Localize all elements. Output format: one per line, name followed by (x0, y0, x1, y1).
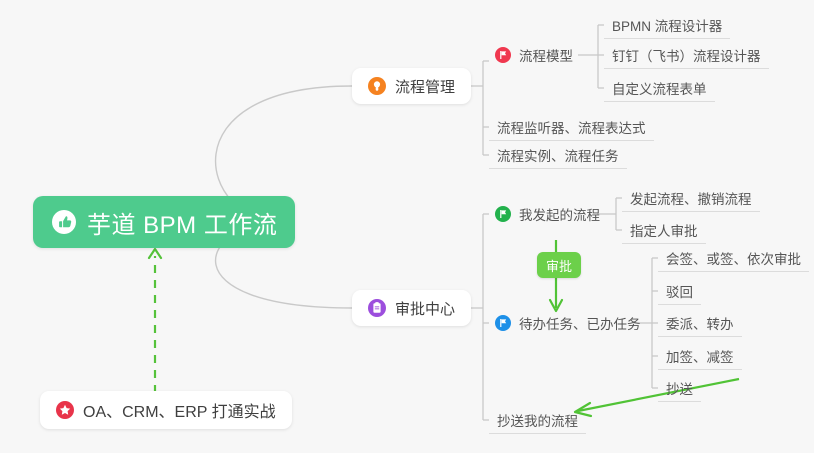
leaf-label: 指定人审批 (630, 220, 698, 240)
flag-icon (495, 315, 511, 331)
root-label: 芋道 BPM 工作流 (87, 205, 277, 240)
group-label-todo-done-tasks: 待办任务、已办任务 (519, 313, 641, 333)
thumbs-up-icon (51, 209, 77, 235)
flag-icon (495, 206, 511, 222)
bottom-node-integration[interactable]: OA、CRM、ERP 打通实战 (40, 391, 292, 429)
star-icon (56, 401, 74, 419)
mindmap-canvas: 芋道 BPM 工作流 流程管理 流程模型 BPMN 流程设计器 钉钉（飞书）流程… (0, 0, 814, 453)
leaf-node[interactable]: 钉钉（飞书）流程设计器 (604, 41, 769, 69)
leaf-node[interactable]: 流程监听器、流程表达式 (489, 113, 654, 141)
group-label-process-model: 流程模型 (519, 45, 573, 65)
leaf-node[interactable]: 抄送我的流程 (489, 406, 586, 434)
leaf-node[interactable]: 指定人审批 (622, 216, 706, 244)
bottom-node-label: OA、CRM、ERP 打通实战 (83, 398, 276, 422)
leaf-label: 流程实例、流程任务 (497, 145, 619, 165)
leaf-label: 钉钉（飞书）流程设计器 (612, 45, 761, 65)
branch-node-process-management[interactable]: 流程管理 (352, 68, 471, 104)
leaf-node[interactable]: 加签、减签 (658, 342, 742, 370)
leaf-node[interactable]: 抄送 (658, 374, 701, 402)
leaf-label: BPMN 流程设计器 (612, 15, 722, 35)
group-node-my-initiated[interactable]: 我发起的流程 (489, 200, 608, 228)
branch-label-process-management: 流程管理 (395, 76, 455, 97)
flag-icon (495, 47, 511, 63)
branch-node-approval-center[interactable]: 审批中心 (352, 290, 471, 326)
leaf-node[interactable]: 会签、或签、依次审批 (658, 244, 809, 272)
group-node-todo-done-tasks[interactable]: 待办任务、已办任务 (489, 309, 649, 337)
leaf-node[interactable]: BPMN 流程设计器 (604, 11, 730, 39)
dashed-arrow-bottom-to-root (149, 249, 161, 393)
clipboard-icon (368, 299, 386, 317)
leaf-label: 发起流程、撤销流程 (630, 188, 752, 208)
leaf-label: 会签、或签、依次审批 (666, 248, 801, 268)
approval-chip[interactable]: 审批 (537, 252, 581, 278)
branch-label-approval-center: 审批中心 (395, 298, 455, 319)
leaf-node[interactable]: 委派、转办 (658, 309, 742, 337)
leaf-label: 抄送我的流程 (497, 410, 578, 430)
leaf-label: 流程监听器、流程表达式 (497, 117, 646, 137)
leaf-label: 自定义流程表单 (612, 78, 707, 98)
group-label-my-initiated: 我发起的流程 (519, 204, 600, 224)
arrow-cc-to-cc-mine (575, 379, 739, 416)
leaf-label: 委派、转办 (666, 313, 734, 333)
root-node[interactable]: 芋道 BPM 工作流 (33, 196, 295, 248)
leaf-label: 驳回 (666, 281, 693, 301)
leaf-node[interactable]: 驳回 (658, 277, 701, 305)
leaf-node[interactable]: 流程实例、流程任务 (489, 141, 627, 169)
approval-chip-label: 审批 (546, 256, 572, 275)
leaf-node[interactable]: 发起流程、撤销流程 (622, 184, 760, 212)
leaf-label: 抄送 (666, 378, 693, 398)
leaf-label: 加签、减签 (666, 346, 734, 366)
group-node-process-model[interactable]: 流程模型 (489, 41, 581, 69)
leaf-node[interactable]: 自定义流程表单 (604, 74, 715, 102)
lightbulb-pin-icon (368, 77, 386, 95)
